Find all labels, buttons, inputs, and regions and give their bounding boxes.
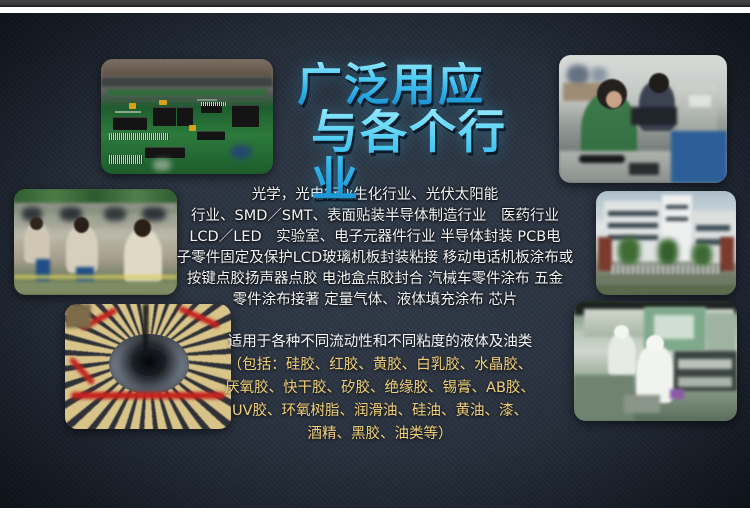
tree [658,239,678,265]
pcb-edge [101,77,273,87]
pcb-chip [113,117,147,130]
top-divider-strip [0,0,750,7]
tool [629,163,659,175]
cable [579,155,625,163]
indicator-light [670,389,684,399]
blue-machine [671,131,727,183]
dispensing-needle [143,304,148,356]
fluid-type-line: （包括：硅胶、红胶、黄胶、白乳胶、水晶胶、 [170,354,590,377]
window-band [608,211,658,216]
cleanroom-worker [608,333,636,377]
monitor-keyboard [631,107,683,125]
worker-cap [614,325,629,339]
window-band [608,223,658,228]
pcb-chip [197,131,225,140]
tree [618,237,640,265]
pcb-silkscreen [115,111,141,113]
pcb-capacitor [159,100,167,105]
promotional-banner: 广泛用应 与各个行业 光学，光电行业生化行业、光伏太阳能 行业、SMD／SMT、… [0,0,750,516]
body-line: 零件涂布接著 定量气体、液体填充涂布 芯片 [150,290,600,311]
stool [624,395,660,413]
dark-carbon-panel: 广泛用应 与各个行业 光学，光电行业生化行业、光伏太阳能 行业、SMD／SMT、… [0,13,750,508]
machine-window [654,315,694,339]
second-worker-head [649,73,669,93]
pcb-backdrop [101,59,273,77]
background-worker [567,65,589,85]
rotor-center-bore [131,348,167,376]
fluid-type-line: UV胶、环氧树脂、润滑油、硅油、黄油、漆、 [170,400,590,423]
bottom-divider-strip [0,508,750,516]
pcb-chip [177,107,193,126]
factory-building-scene [596,191,736,295]
pcb-chip [153,107,176,126]
machine-unit [706,313,736,353]
page-title: 广泛用应 与各个行业 [297,62,533,205]
window-band [666,217,688,221]
tree [692,243,712,267]
body-line: 子零件固定及保护LCD玻璃机板封装粘接 移动电话机板涂布或 [150,248,600,269]
photo-workbench-technicians [559,55,727,183]
window-band [696,225,730,231]
pcb-chip [145,147,185,158]
machine-tray [678,359,732,369]
pcb-connector [231,145,251,159]
cleanroom-scene [574,301,737,421]
pcb-pin-header [109,155,143,164]
lawn [596,285,736,295]
fluid-types-heading: 适用于各种不同流动性和不同粘度的液体及油类 [170,331,590,354]
pcb-component [153,159,171,171]
pcb-strip [107,89,267,96]
worker-head [134,219,151,237]
machine-tray [678,377,732,387]
fluid-type-line: 厌氧胶、快干胶、矽胶、绝缘胶、锡膏、AB胶、 [170,377,590,400]
frame-corner [65,304,91,328]
pcb-chip [232,105,259,127]
pcb-capacitor [189,125,196,131]
pcb-pin-header [201,102,227,106]
entrance-sign-pillar [598,237,612,271]
pcb-pin-header [109,133,169,140]
entrance-sign-pillar [720,237,734,271]
pcb-scene [101,59,273,174]
headline-line-1: 广泛用应 [297,62,533,108]
gate-fence [612,265,722,275]
body-line: 按键点胶扬声器点胶 电池盒点胶封合 汽械车零件涂布 五金 [150,269,600,290]
headline-line-2: 与各个行业 [311,109,533,205]
body-line: LCD／LED 实验室、电子元器件行业 半导体封装 PCB电 [150,227,600,248]
worker-cap [646,335,664,352]
monitor [104,207,126,221]
fluid-type-line: 酒精、黑胶、油类等） [170,423,590,446]
worker-head [74,217,89,233]
workbench-scene [559,55,727,183]
pcb-capacitor [129,103,136,109]
body-line: 行业、SMD／SMT、表面贴装半导体制造行业 医药行业 [150,206,600,227]
fluid-types-block: 适用于各种不同流动性和不同粘度的液体及油类 （包括：硅胶、红胶、黄胶、白乳胶、水… [170,331,590,446]
photo-factory-building [596,191,736,295]
photo-pcb-circuit-board [101,59,273,174]
test-equipment [677,85,717,137]
window-band [666,205,688,209]
pcb-silkscreen [197,99,217,101]
worker-head [30,217,43,230]
worker-face [606,91,622,108]
photo-cleanroom-production [574,301,737,421]
equipment-panel [689,95,711,107]
